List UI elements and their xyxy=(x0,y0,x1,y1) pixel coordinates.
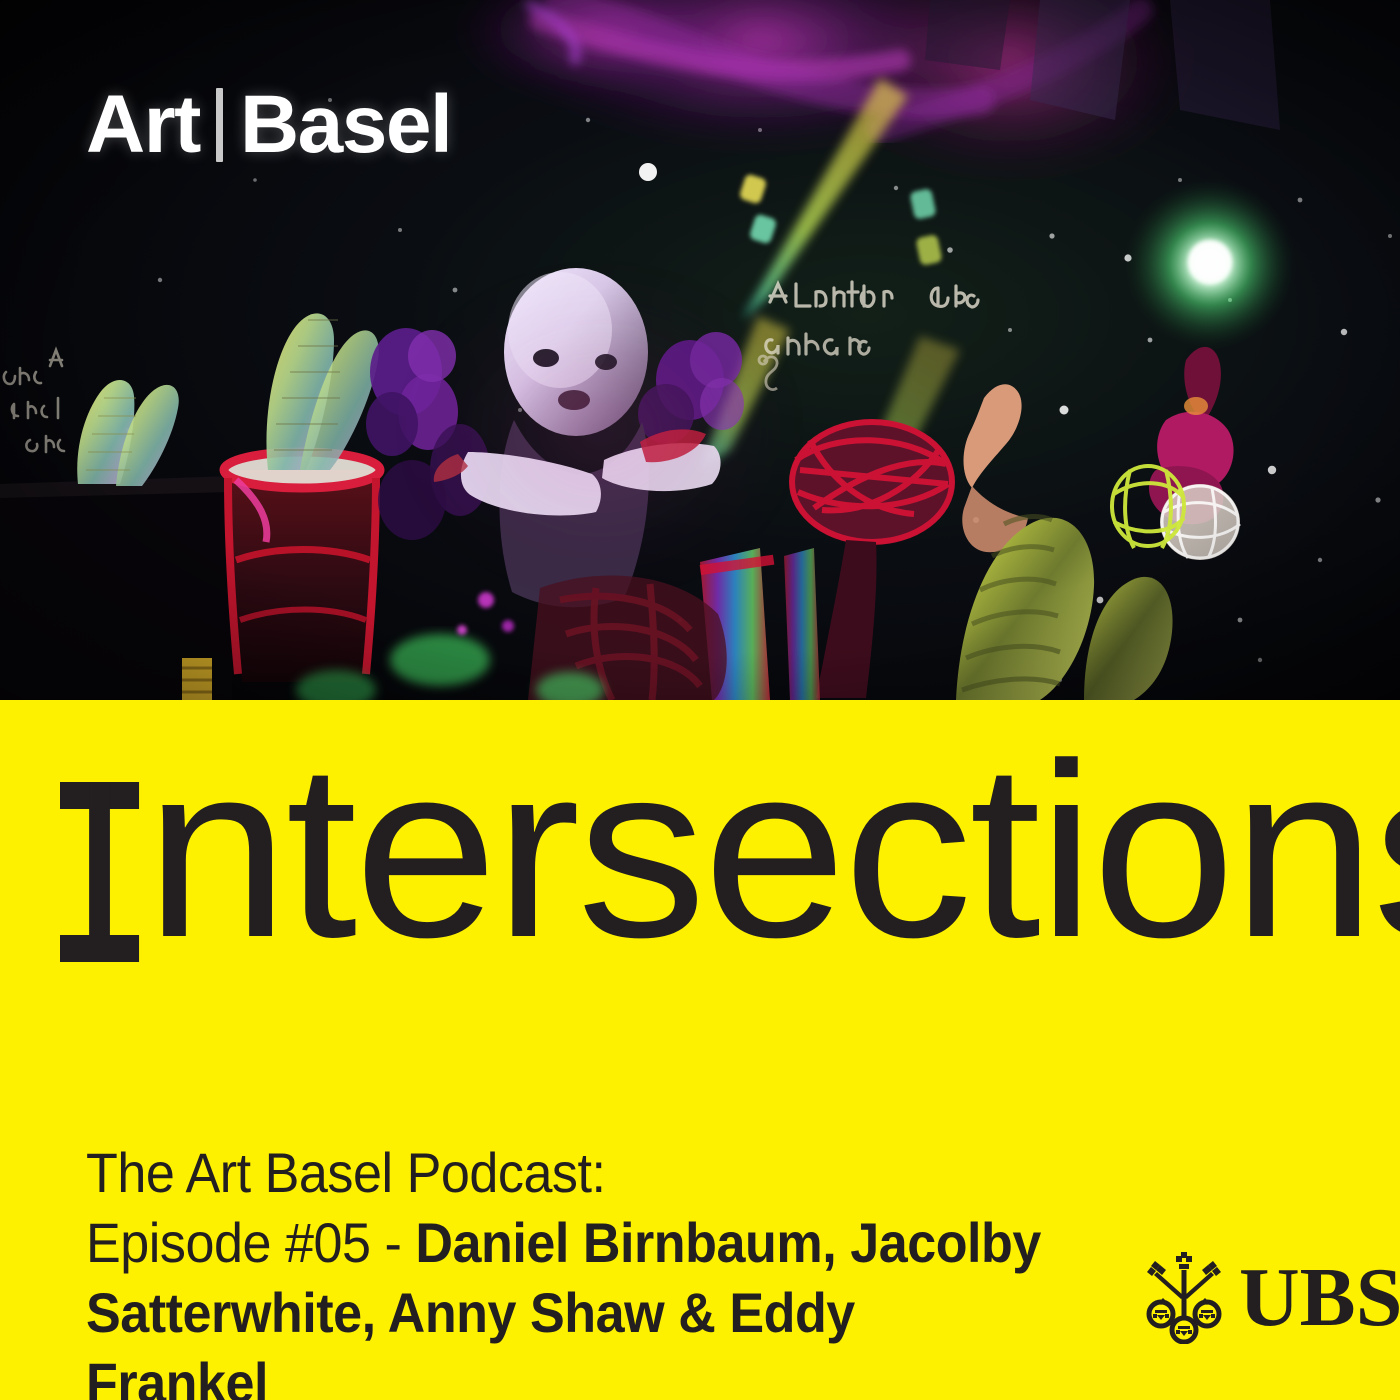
podcast-cover-art: Art Basel ntersections The Art Basel Pod… xyxy=(0,0,1400,1400)
art-basel-logo-art: Art xyxy=(86,86,200,164)
ubs-logo: UBS xyxy=(1143,1252,1400,1344)
podcast-title-initial-I xyxy=(60,782,139,962)
episode-credits: The Art Basel Podcast: Episode #05 - Dan… xyxy=(86,1138,1044,1400)
podcast-title-rest: ntersections xyxy=(145,735,1400,965)
art-basel-logo-divider xyxy=(216,88,223,162)
art-basel-logo-basel: Basel xyxy=(240,86,451,164)
podcast-subtitle: The Art Basel Podcast: xyxy=(86,1141,606,1204)
podcast-title: ntersections xyxy=(60,735,1400,965)
artwork-image: Art Basel xyxy=(0,0,1400,700)
ubs-wordmark: UBS xyxy=(1239,1256,1400,1340)
ubs-keys-icon xyxy=(1143,1252,1225,1344)
art-basel-logo: Art Basel xyxy=(86,86,451,164)
credits-line-episode: Episode #05 - Daniel Birnbaum, Jacolby S… xyxy=(86,1208,1044,1400)
credits-line-podcast: The Art Basel Podcast: xyxy=(86,1138,1044,1208)
episode-number: Episode #05 - xyxy=(86,1211,415,1274)
